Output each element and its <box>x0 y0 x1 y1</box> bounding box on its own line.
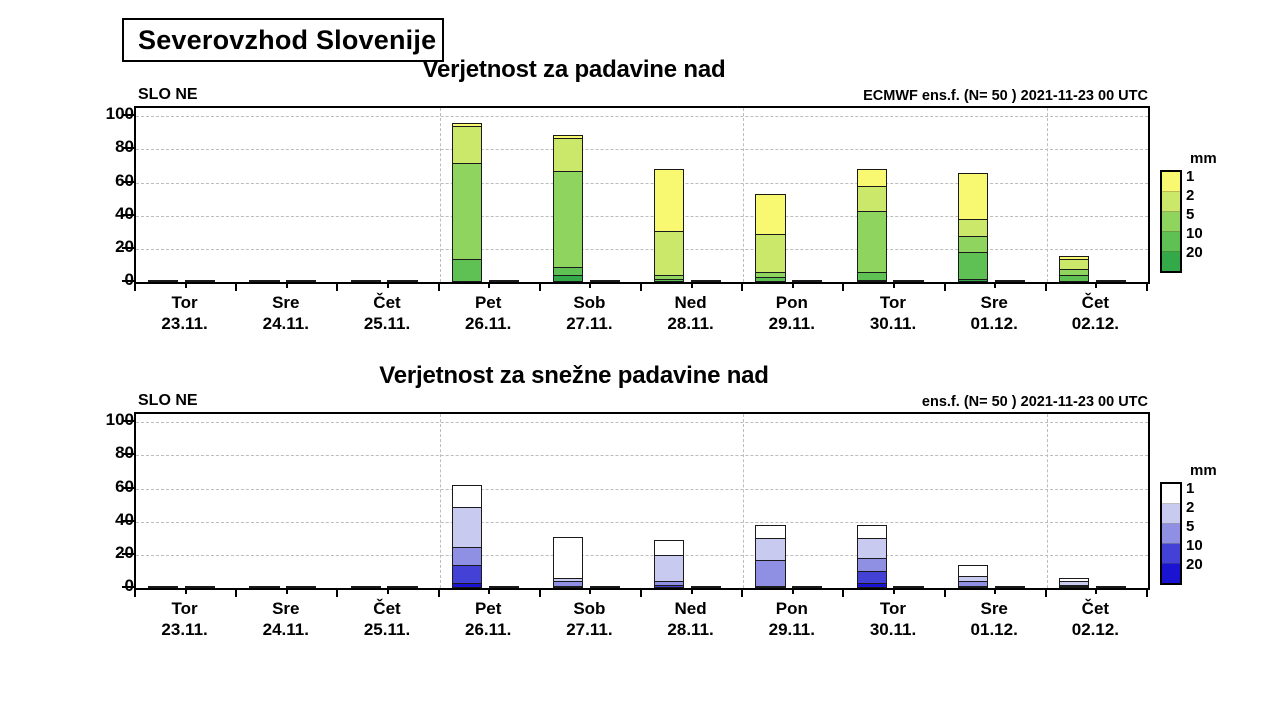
bar-pon-2 <box>792 414 822 588</box>
legend-label-5mm: 5 <box>1186 518 1194 535</box>
legend-swatch-20mm <box>1162 564 1180 583</box>
plot-area-snow <box>134 412 1150 590</box>
bar-sob-2 <box>590 108 620 282</box>
bar-segment-10mm <box>958 586 988 588</box>
y-tick-mark <box>122 280 134 282</box>
y-tick-mark <box>122 214 134 216</box>
x-axis-label-day: Ned28.11. <box>667 292 713 335</box>
gridline-horizontal <box>136 116 1148 117</box>
x-tick-mark <box>488 282 490 288</box>
x-label-dayname: Čet <box>1072 292 1119 313</box>
bar-sob-1 <box>553 414 583 588</box>
x-tick-mark <box>134 282 136 291</box>
x-label-dayname: Tor <box>870 292 916 313</box>
gridline-horizontal <box>136 555 1148 556</box>
x-label-dayname: Sre <box>971 598 1018 619</box>
gridline-horizontal <box>136 249 1148 250</box>
x-tick-mark <box>842 588 844 597</box>
bar-pon-1 <box>755 414 785 588</box>
snow-panel: Verjetnost za snežne padavine nad ens.f.… <box>0 362 1280 662</box>
bar-pon-2 <box>792 108 822 282</box>
bar-segment-20mm <box>452 583 482 588</box>
gridline-horizontal <box>136 216 1148 217</box>
x-tick-mark <box>944 588 946 597</box>
gridline-horizontal <box>136 422 1148 423</box>
x-tick-mark <box>387 588 389 594</box>
x-label-dayname: Sre <box>263 598 309 619</box>
x-tick-mark <box>1095 282 1097 288</box>
legend-swatch-10mm <box>1162 544 1180 564</box>
x-axis-label-day: Pon29.11. <box>769 292 815 335</box>
bar-segment-20mm <box>553 275 583 282</box>
legend-label-10mm: 10 <box>1186 225 1203 242</box>
bar-sre-2 <box>286 108 316 282</box>
legend-swatch-5mm <box>1162 212 1180 232</box>
x-tick-mark <box>387 282 389 288</box>
gridline-horizontal <box>136 183 1148 184</box>
x-label-date: 29.11. <box>769 313 815 334</box>
bar-tor-1 <box>857 414 887 588</box>
x-label-date: 24.11. <box>263 313 309 334</box>
bar-segment-20mm <box>857 583 887 588</box>
x-tick-mark <box>185 588 187 594</box>
x-label-dayname: Sob <box>566 292 612 313</box>
x-tick-mark <box>691 282 693 288</box>
bar-sre-1 <box>958 108 988 282</box>
x-label-date: 26.11. <box>465 619 511 640</box>
bar-tor-2 <box>893 108 923 282</box>
legend-snow: mm 1251020 <box>1160 462 1250 585</box>
x-label-date: 30.11. <box>870 619 916 640</box>
bar-pet-2 <box>489 108 519 282</box>
gridline-vertical <box>440 108 441 282</box>
gridline-vertical <box>743 414 744 588</box>
x-label-date: 27.11. <box>566 619 612 640</box>
bar-čet-1 <box>1059 414 1089 588</box>
x-tick-mark <box>589 588 591 594</box>
x-label-date: 26.11. <box>465 313 511 334</box>
gridline-vertical <box>1047 108 1048 282</box>
legend-swatch-1mm <box>1162 484 1180 504</box>
bar-segment-20mm <box>958 279 988 282</box>
bar-ned-1 <box>654 108 684 282</box>
bar-čet-2 <box>387 414 417 588</box>
bar-sre-2 <box>995 108 1025 282</box>
x-tick-mark <box>235 282 237 291</box>
gridline-vertical <box>1047 414 1048 588</box>
bar-tor-2 <box>185 108 215 282</box>
y-tick-mark <box>122 147 134 149</box>
legend-swatch-20mm <box>1162 252 1180 271</box>
bar-segment-10mm <box>452 259 482 282</box>
legend-label-20mm: 20 <box>1186 244 1203 261</box>
legend-title-snow: mm <box>1190 462 1250 479</box>
x-axis-label-day: Čet25.11. <box>364 598 410 641</box>
bar-sre-1 <box>249 414 279 588</box>
x-tick-mark <box>438 282 440 291</box>
x-label-date: 23.11. <box>161 313 207 334</box>
x-axis-label-day: Tor30.11. <box>870 292 916 335</box>
legend-swatch-2mm <box>1162 192 1180 212</box>
bar-segment-10mm <box>654 279 684 282</box>
x-tick-mark <box>438 588 440 597</box>
x-tick-mark <box>1095 588 1097 594</box>
x-axis-label-day: Tor23.11. <box>161 292 207 335</box>
bar-pet-2 <box>489 414 519 588</box>
legend-label-10mm: 10 <box>1186 537 1203 554</box>
y-axis-snow: % 020406080100 <box>70 412 134 586</box>
x-axis-label-day: Tor23.11. <box>161 598 207 641</box>
legend-swatch-10mm <box>1162 232 1180 252</box>
x-tick-mark <box>1146 282 1148 291</box>
x-axis-label-day: Čet25.11. <box>364 292 410 335</box>
x-label-date: 02.12. <box>1072 619 1119 640</box>
x-tick-mark <box>286 588 288 594</box>
x-label-dayname: Ned <box>667 292 713 313</box>
x-axis-label-day: Čet02.12. <box>1072 598 1119 641</box>
bar-segment-5mm <box>755 560 785 588</box>
x-label-date: 30.11. <box>870 313 916 334</box>
x-axis-label-day: Sob27.11. <box>566 292 612 335</box>
x-tick-mark <box>336 588 338 597</box>
gridline-horizontal <box>136 489 1148 490</box>
x-tick-mark <box>994 282 996 288</box>
x-tick-mark <box>589 282 591 288</box>
bar-čet-1 <box>351 108 381 282</box>
x-tick-mark <box>792 588 794 594</box>
x-label-date: 02.12. <box>1072 313 1119 334</box>
x-tick-mark <box>286 282 288 288</box>
x-axis-label-day: Sre24.11. <box>263 292 309 335</box>
legend-labels-precipitation: 1251020 <box>1186 170 1236 265</box>
bar-tor-1 <box>148 414 178 588</box>
chart-subtitle-snow: ens.f. (N= 50 ) 2021-11-23 00 UTC <box>922 394 1148 410</box>
bar-ned-1 <box>654 414 684 588</box>
bar-ned-2 <box>691 108 721 282</box>
bar-tor-2 <box>185 414 215 588</box>
y-tick-mark <box>122 453 134 455</box>
x-axis-label-day: Pet26.11. <box>465 598 511 641</box>
x-tick-mark <box>488 588 490 594</box>
legend-swatch-5mm <box>1162 524 1180 544</box>
bar-segment-20mm <box>857 280 887 282</box>
bar-tor-1 <box>857 108 887 282</box>
x-label-dayname: Čet <box>364 292 410 313</box>
legend-swatches-precipitation <box>1160 170 1182 273</box>
x-tick-mark <box>1045 282 1047 291</box>
bar-segment-10mm <box>553 586 583 588</box>
x-tick-mark <box>640 588 642 597</box>
bar-sre-2 <box>995 414 1025 588</box>
bar-segment-10mm <box>1059 275 1089 282</box>
gridline-horizontal <box>136 522 1148 523</box>
x-tick-mark <box>741 282 743 291</box>
legend-swatch-2mm <box>1162 504 1180 524</box>
x-label-date: 25.11. <box>364 619 410 640</box>
bar-tor-2 <box>893 414 923 588</box>
y-tick-mark <box>122 553 134 555</box>
gridline-horizontal <box>136 455 1148 456</box>
legend-swatches-snow <box>1160 482 1182 585</box>
x-axis-ticks-snow <box>134 588 1150 598</box>
legend-label-2mm: 2 <box>1186 187 1194 204</box>
x-tick-mark <box>1045 588 1047 597</box>
legend-labels-snow: 1251020 <box>1186 482 1236 577</box>
bar-tor-1 <box>148 108 178 282</box>
x-label-date: 27.11. <box>566 313 612 334</box>
y-tick-mark <box>122 586 134 588</box>
chart-title-snow: Verjetnost za snežne padavine nad <box>134 362 1014 390</box>
bar-čet-1 <box>1059 108 1089 282</box>
bar-ned-2 <box>691 414 721 588</box>
bar-segment-10mm <box>755 586 785 588</box>
bar-čet-2 <box>1096 414 1126 588</box>
x-tick-mark <box>235 588 237 597</box>
bar-segment-10mm <box>1059 586 1089 588</box>
x-tick-mark <box>134 588 136 597</box>
bar-pet-1 <box>452 414 482 588</box>
x-label-date: 29.11. <box>769 619 815 640</box>
bars-snow <box>136 414 1148 588</box>
bar-segment-2mm <box>654 231 684 282</box>
x-axis-labels-precipitation: Tor23.11.Sre24.11.Čet25.11.Pet26.11.Sob2… <box>134 292 1146 342</box>
legend-title-precipitation: mm <box>1190 150 1250 167</box>
bar-sre-1 <box>958 414 988 588</box>
x-axis-label-day: Sre24.11. <box>263 598 309 641</box>
x-tick-mark <box>893 588 895 594</box>
x-axis-label-day: Sob27.11. <box>566 598 612 641</box>
bar-čet-2 <box>387 108 417 282</box>
x-tick-mark <box>691 588 693 594</box>
x-label-date: 23.11. <box>161 619 207 640</box>
legend-label-5mm: 5 <box>1186 206 1194 223</box>
chart-title-precipitation: Verjetnost za padavine nad <box>134 56 1014 84</box>
legend-label-1mm: 1 <box>1186 480 1194 497</box>
legend-precipitation: mm 1251020 <box>1160 150 1250 273</box>
x-label-dayname: Pon <box>769 292 815 313</box>
x-label-dayname: Pet <box>465 292 511 313</box>
y-tick-mark <box>122 487 134 489</box>
gridline-vertical <box>743 108 744 282</box>
y-tick-mark <box>122 114 134 116</box>
x-label-date: 01.12. <box>971 313 1018 334</box>
y-axis-precipitation: % 020406080100 <box>70 106 134 280</box>
chart-subtitle-precipitation: ECMWF ens.f. (N= 50 ) 2021-11-23 00 UTC <box>863 88 1148 104</box>
x-label-dayname: Ned <box>667 598 713 619</box>
legend-label-2mm: 2 <box>1186 499 1194 516</box>
x-axis-label-day: Pet26.11. <box>465 292 511 335</box>
region-title: Severovzhod Slovenije <box>138 25 436 56</box>
bar-segment-10mm <box>654 585 684 588</box>
x-tick-mark <box>539 282 541 291</box>
x-label-dayname: Sob <box>566 598 612 619</box>
x-axis-label-day: Pon29.11. <box>769 598 815 641</box>
bar-sob-1 <box>553 108 583 282</box>
x-tick-mark <box>539 588 541 597</box>
x-label-date: 25.11. <box>364 313 410 334</box>
legend-label-1mm: 1 <box>1186 168 1194 185</box>
y-tick-mark <box>122 420 134 422</box>
gridline-vertical <box>440 414 441 588</box>
bar-sre-1 <box>249 108 279 282</box>
x-label-date: 24.11. <box>263 619 309 640</box>
legend-label-20mm: 20 <box>1186 556 1203 573</box>
x-label-date: 28.11. <box>667 619 713 640</box>
gridline-horizontal <box>136 149 1148 150</box>
x-label-date: 28.11. <box>667 313 713 334</box>
x-axis-label-day: Ned28.11. <box>667 598 713 641</box>
bar-segment-10mm <box>958 252 988 282</box>
x-tick-mark <box>792 282 794 288</box>
bars-precipitation <box>136 108 1148 282</box>
x-axis-label-day: Tor30.11. <box>870 598 916 641</box>
x-axis-label-day: Čet02.12. <box>1072 292 1119 335</box>
x-label-dayname: Tor <box>161 292 207 313</box>
x-label-date: 01.12. <box>971 619 1018 640</box>
plot-area-precipitation <box>134 106 1150 284</box>
precipitation-panel: Verjetnost za padavine nad ECMWF ens.f. … <box>0 56 1280 356</box>
legend-swatch-1mm <box>1162 172 1180 192</box>
x-tick-mark <box>336 282 338 291</box>
x-tick-mark <box>893 282 895 288</box>
x-tick-mark <box>944 282 946 291</box>
y-tick-mark <box>122 247 134 249</box>
x-label-dayname: Tor <box>870 598 916 619</box>
bar-pet-1 <box>452 108 482 282</box>
x-label-dayname: Sre <box>971 292 1018 313</box>
x-tick-mark <box>994 588 996 594</box>
x-label-dayname: Pet <box>465 598 511 619</box>
bar-pon-1 <box>755 108 785 282</box>
x-label-dayname: Čet <box>1072 598 1119 619</box>
bar-čet-2 <box>1096 108 1126 282</box>
x-label-dayname: Tor <box>161 598 207 619</box>
x-label-dayname: Sre <box>263 292 309 313</box>
x-axis-label-day: Sre01.12. <box>971 292 1018 335</box>
bar-sre-2 <box>286 414 316 588</box>
bar-segment-10mm <box>755 277 785 282</box>
x-axis-labels-snow: Tor23.11.Sre24.11.Čet25.11.Pet26.11.Sob2… <box>134 598 1146 648</box>
bar-čet-1 <box>351 414 381 588</box>
corner-label-snow: SLO NE <box>138 392 198 410</box>
x-axis-label-day: Sre01.12. <box>971 598 1018 641</box>
x-label-dayname: Čet <box>364 598 410 619</box>
x-axis-ticks-precipitation <box>134 282 1150 292</box>
bar-segment-5mm <box>553 171 583 282</box>
corner-label-precipitation: SLO NE <box>138 86 198 104</box>
x-tick-mark <box>842 282 844 291</box>
bar-sob-2 <box>590 414 620 588</box>
x-tick-mark <box>185 282 187 288</box>
x-tick-mark <box>640 282 642 291</box>
x-tick-mark <box>1146 588 1148 597</box>
x-label-dayname: Pon <box>769 598 815 619</box>
y-tick-mark <box>122 181 134 183</box>
y-tick-mark <box>122 520 134 522</box>
x-tick-mark <box>741 588 743 597</box>
